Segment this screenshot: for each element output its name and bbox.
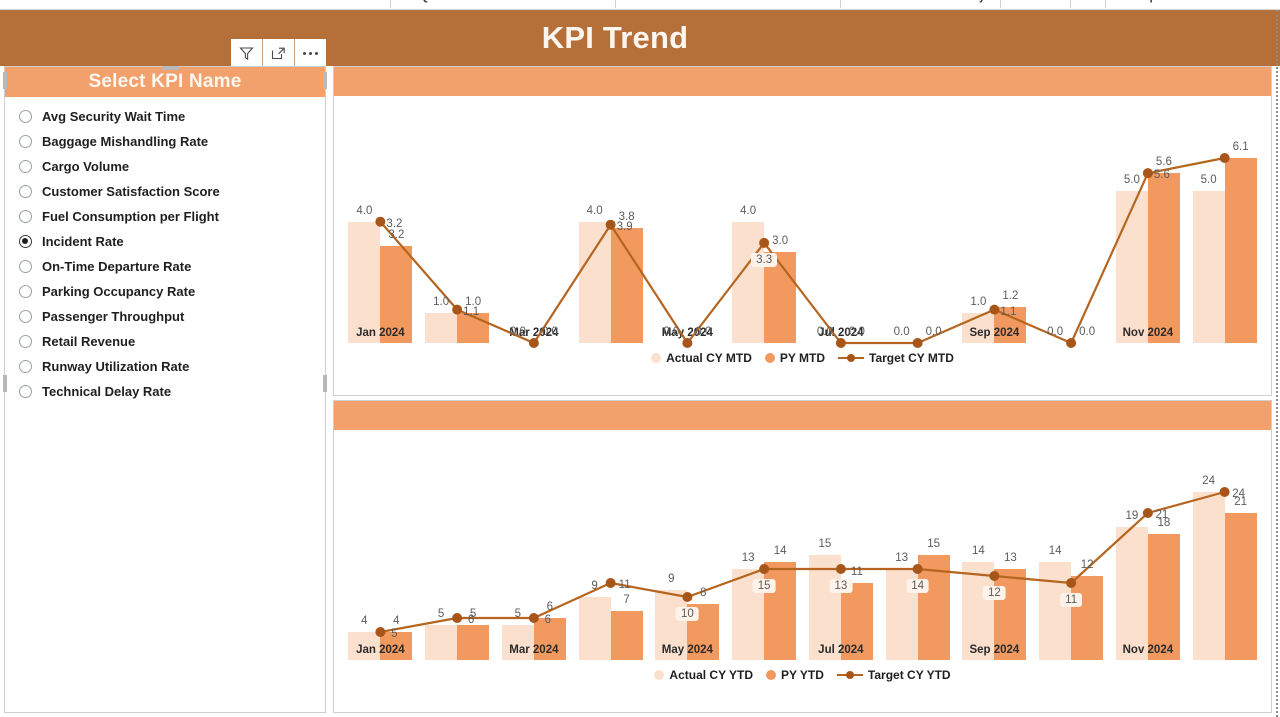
slicer-resize-grip-right-top[interactable] [323,72,327,89]
legend-color-swatch [651,353,661,363]
bar-py[interactable] [457,625,489,660]
month-group[interactable] [419,96,496,343]
bar-label-actual: 4.0 [356,205,372,217]
bar-pair [726,96,803,343]
bar-label-py: 0.0 [926,326,942,338]
bar-label-actual: 5.0 [1124,174,1140,186]
bar-actual[interactable] [1193,191,1225,343]
kpi-slicer-panel: Select KPI Name Avg Security Wait TimeBa… [4,66,326,713]
month-group[interactable] [879,430,956,660]
slicer-item-technical-delay-rate[interactable]: Technical Delay Rate [19,379,325,404]
x-axis-tick-label: Jan 2024 [356,644,405,656]
bar-pair [342,96,419,343]
bar-pair [956,430,1033,660]
bar-label-actual: 5.0 [1201,174,1217,186]
target-value-callout: 3.3 [751,253,777,267]
bar-py[interactable] [611,228,643,343]
legend-line-swatch [838,353,864,363]
bar-py[interactable] [764,562,796,660]
bar-label-py: 0.0 [1079,326,1095,338]
slicer-header: Select KPI Name [5,67,325,97]
target-value-label: 6 [545,614,551,626]
chart-legend-ytd: Actual CY YTDPY YTDTarget CY YTD [334,668,1271,682]
radio-unchecked-icon[interactable] [19,385,32,398]
month-group[interactable]: May 2024 [649,96,726,343]
slicer-item-label: On-Time Departure Rate [42,259,191,274]
ribbon-separator [1070,0,1071,8]
bar-py[interactable] [611,611,643,660]
radio-unchecked-icon[interactable] [19,160,32,173]
radio-unchecked-icon[interactable] [19,335,32,348]
bar-label-actual: 0.0 [1047,326,1063,338]
bar-label-actual: 5 [515,608,521,620]
legend-item[interactable]: PY YTD [766,668,824,682]
bar-py[interactable] [1148,534,1180,660]
radio-unchecked-icon[interactable] [19,110,32,123]
bar-py[interactable] [1225,158,1257,343]
bar-label-py: 3.0 [772,235,788,247]
bar-label-actual: 0.0 [894,326,910,338]
slicer-item-label: Customer Satisfaction Score [42,184,220,199]
chart-legend-mtd: Actual CY MTDPY MTDTarget CY MTD [334,351,1271,365]
bar-label-py: 6 [547,601,553,613]
slicer-resize-grip-top[interactable] [162,66,179,70]
bar-label-py: 6.1 [1233,141,1249,153]
bar-pair [879,96,956,343]
legend-label: Actual CY YTD [669,668,753,682]
bar-pair [803,430,880,660]
legend-item[interactable]: Target CY YTD [837,668,951,682]
month-group[interactable]: Mar 2024 [496,96,573,343]
radio-unchecked-icon[interactable] [19,135,32,148]
bar-label-py: 4 [393,615,399,627]
bar-pair [572,430,649,660]
bar-label-py: 3.2 [388,229,404,241]
bar-label-actual: 24 [1202,475,1215,487]
bar-pair [496,96,573,343]
bar-actual[interactable] [348,222,380,343]
bar-actual[interactable] [1039,562,1071,660]
bar-label-actual: 13 [895,552,908,564]
chart-header-ytd [334,401,1271,430]
target-value-label: 1.1 [1000,306,1016,318]
slicer-item-label: Passenger Throughput [42,309,184,324]
bar-label-py: 15 [927,538,940,550]
radio-unchecked-icon[interactable] [19,185,32,198]
radio-unchecked-icon[interactable] [19,360,32,373]
target-value-label: 3.9 [617,221,633,233]
chart-plot-mtd: Jan 2024Mar 2024May 2024Jul 2024Sep 2024… [334,96,1271,369]
radio-unchecked-icon[interactable] [19,210,32,223]
bar-label-actual: 4 [361,615,367,627]
bar-pair [419,96,496,343]
bar-label-py: 13 [1004,552,1017,564]
slicer-item-label: Runway Utilization Rate [42,359,189,374]
target-value-label: 6 [468,614,474,626]
bar-label-py: 0.0 [695,326,711,338]
month-group[interactable] [572,430,649,660]
bar-actual[interactable] [1116,527,1148,660]
target-value-label: 5 [391,628,397,640]
ribbon-separator [840,0,841,8]
slicer-item-label: Baggage Mishandling Rate [42,134,208,149]
bar-label-actual: 15 [818,538,831,550]
bar-label-actual: 14 [972,545,985,557]
bar-label-py: 0.0 [542,326,558,338]
bar-pair [496,430,573,660]
legend-item[interactable]: PY MTD [765,351,825,365]
bar-actual[interactable] [732,222,764,343]
target-value-label: 1.1 [463,306,479,318]
ribbon-tab-copilot[interactable]: Copilot [1135,0,1173,3]
month-group[interactable]: Sep 2024 [956,430,1033,660]
legend-item[interactable]: Target CY MTD [838,351,954,365]
legend-item[interactable]: Actual CY MTD [651,351,752,365]
x-axis-tick-label: Nov 2024 [1123,327,1174,339]
month-groups-ytd: Jan 2024Mar 2024May 2024Jul 2024Sep 2024… [342,430,1263,660]
slicer-item-fuel-consumption-per-flight[interactable]: Fuel Consumption per Flight [19,204,325,229]
bar-label-py: 12 [1081,559,1094,571]
ribbon-tab-share[interactable]: Share [1028,0,1059,3]
legend-color-swatch [765,353,775,363]
bar-label-py: 5.6 [1156,156,1172,168]
bar-actual[interactable] [579,597,611,660]
month-group[interactable] [726,96,803,343]
ribbon-separator [1105,0,1106,8]
slicer-item-label: Incident Rate [42,234,124,249]
filter-icon[interactable] [231,39,263,68]
bar-pair [803,96,880,343]
month-group[interactable] [726,430,803,660]
bar-py[interactable] [1225,513,1257,660]
target-value-label: 3.2 [386,218,402,230]
slicer-item-baggage-mishandling-rate[interactable]: Baggage Mishandling Rate [19,129,325,154]
ribbon-tab-insert[interactable]: Insert [630,0,660,3]
slicer-resize-grip-right-mid[interactable] [323,375,327,392]
radio-unchecked-icon[interactable] [19,310,32,323]
legend-color-swatch [766,670,776,680]
legend-label: Actual CY MTD [666,351,752,365]
report-banner: KPI Trend [0,10,1280,66]
x-axis-tick-label: Jul 2024 [818,644,863,656]
month-group[interactable] [419,430,496,660]
slicer-item-incident-rate[interactable]: Incident Rate [19,229,325,254]
slicer-item-avg-security-wait-time[interactable]: Avg Security Wait Time [19,104,325,129]
slicer-item-on-time-departure-rate[interactable]: On-Time Departure Rate [19,254,325,279]
chart-plot-ytd: Jan 2024Mar 2024May 2024Jul 2024Sep 2024… [334,430,1271,686]
slicer-item-passenger-throughput[interactable]: Passenger Throughput [19,304,325,329]
month-group[interactable]: Mar 2024 [496,430,573,660]
bar-py[interactable] [918,555,950,660]
bar-label-actual: 13 [742,552,755,564]
legend-item[interactable]: Actual CY YTD [654,668,753,682]
chart-header-mtd [334,67,1271,96]
radio-unchecked-icon[interactable] [19,260,32,273]
bar-label-actual: 5 [438,608,444,620]
x-axis-tick-label: Sep 2024 [969,327,1019,339]
radio-unchecked-icon[interactable] [19,285,32,298]
bar-pair [726,430,803,660]
bar-actual[interactable] [425,625,457,660]
kpi-option-list: Avg Security Wait TimeBaggage Mishandlin… [5,97,325,404]
visual-toolbar [231,39,326,68]
target-value-callout: 10 [676,607,699,621]
bar-actual[interactable] [579,222,611,343]
radio-checked-icon[interactable] [19,235,32,248]
bar-label-actual: 19 [1125,510,1138,522]
legend-label: Target CY MTD [869,351,954,365]
page-title: KPI Trend [0,20,1230,56]
bar-label-actual: 4.0 [587,205,603,217]
target-value-label: 5.6 [1154,169,1170,181]
bar-pair [1186,96,1263,343]
slicer-item-runway-utilization-rate[interactable]: Runway Utilization Rate [19,354,325,379]
bar-pair [342,430,419,660]
month-group[interactable] [1186,430,1263,660]
slicer-resize-grip-left-mid[interactable] [3,375,7,392]
bar-pair [1110,430,1187,660]
bar-actual[interactable] [1193,492,1225,660]
ellipsis-glyph [303,52,318,55]
ribbon-tab-calculations[interactable]: Calculations [760,0,825,3]
bar-pair [879,430,956,660]
bar-label-py: 0.0 [849,326,865,338]
bar-label-actual: 9 [591,580,597,592]
page-boundary [1276,10,1278,717]
ribbon-separator [615,0,616,8]
month-group[interactable]: May 2024 [649,430,726,660]
bar-label-py: 7 [623,594,629,606]
slicer-item-parking-occupancy-rate[interactable]: Parking Occupancy Rate [19,279,325,304]
month-group[interactable]: Nov 2024 [1110,96,1187,343]
bar-label-actual: 1.0 [970,296,986,308]
bar-label-actual: 4.0 [740,205,756,217]
month-group[interactable]: Sep 2024 [956,96,1033,343]
bar-label-py: 14 [774,545,787,557]
target-value-callout: 13 [829,579,852,593]
x-axis-tick-label: Nov 2024 [1123,644,1174,656]
slicer-item-label: Fuel Consumption per Flight [42,209,219,224]
slicer-item-label: Technical Delay Rate [42,384,171,399]
bar-actual[interactable] [425,313,457,343]
month-group[interactable]: Nov 2024 [1110,430,1187,660]
ribbon-separator [1000,0,1001,8]
bar-label-actual: 1.0 [433,296,449,308]
target-value-callout: 15 [753,579,776,593]
slicer-item-cargo-volume[interactable]: Cargo Volume [19,154,325,179]
bar-label-actual: 14 [1049,545,1062,557]
legend-label: PY MTD [780,351,825,365]
month-group[interactable] [1186,96,1263,343]
ribbon-separator [390,0,391,8]
bar-pair [649,430,726,660]
x-axis-tick-label: May 2024 [662,644,713,656]
ribbon-tab-data[interactable]: Data [133,0,157,3]
target-value-callout: 11 [1060,593,1082,607]
bar-py[interactable] [1148,173,1180,343]
bar-py[interactable] [1071,576,1103,660]
month-group[interactable]: Jul 2024 [803,96,880,343]
bar-pair [649,96,726,343]
legend-label: Target CY YTD [868,668,951,682]
month-group[interactable]: Jan 2024 [342,430,419,660]
x-axis-tick-label: Mar 2024 [509,644,558,656]
slicer-item-label: Avg Security Wait Time [42,109,185,124]
month-group[interactable] [1033,430,1110,660]
target-value-label: 11 [619,579,631,591]
bar-pair [419,430,496,660]
slicer-resize-grip-left[interactable] [3,72,7,89]
slicer-item-retail-revenue[interactable]: Retail Revenue [19,329,325,354]
month-group[interactable] [879,96,956,343]
bar-pair [1186,430,1263,660]
focus-mode-icon[interactable] [263,39,295,68]
slicer-item-label: Cargo Volume [42,159,129,174]
bar-label-actual: 0.0 [817,326,833,338]
bar-label-actual: 0.0 [510,326,526,338]
bar-pair [1033,96,1110,343]
slicer-item-customer-satisfaction-score[interactable]: Customer Satisfaction Score [19,179,325,204]
bar-actual[interactable] [1116,191,1148,343]
target-value-label: 21 [1155,509,1168,521]
ribbon-tab-queries[interactable]: Queries [420,0,461,3]
slicer-title: Select KPI Name [89,71,242,93]
month-group[interactable]: Jul 2024 [803,430,880,660]
ribbon-strip: DataQueriesInsertCalculationsSensitivity… [0,0,1280,10]
bar-label-actual: 9 [668,573,674,585]
bar-label-actual: 0.0 [663,326,679,338]
power-bi-report-page: DataQueriesInsertCalculationsSensitivity… [0,0,1280,717]
slicer-item-label: Parking Occupancy Rate [42,284,195,299]
chart-card-mtd: Jan 2024Mar 2024May 2024Jul 2024Sep 2024… [333,66,1272,396]
bar-pair [1033,430,1110,660]
legend-color-swatch [654,670,664,680]
bar-pair [572,96,649,343]
more-options-icon[interactable] [295,39,326,68]
x-axis-tick-label: Jan 2024 [356,327,405,339]
ribbon-tab-sensitivity[interactable]: Sensitivity [930,0,985,3]
month-group[interactable]: Jan 2024 [342,96,419,343]
chart-card-ytd: Jan 2024Mar 2024May 2024Jul 2024Sep 2024… [333,400,1272,713]
target-value-label: 24 [1232,488,1245,500]
legend-label: PY YTD [781,668,824,682]
bar-pair [956,96,1033,343]
month-group[interactable] [1033,96,1110,343]
x-axis-tick-label: Sep 2024 [969,644,1019,656]
target-value-callout: 14 [906,579,929,593]
legend-line-swatch [837,670,863,680]
slicer-item-label: Retail Revenue [42,334,135,349]
bar-label-py: 11 [851,566,863,578]
bar-label-py: 1.2 [1002,290,1018,302]
target-value-callout: 12 [983,586,1006,600]
bar-pair [1110,96,1187,343]
bar-label-py: 8 [700,587,706,599]
month-group[interactable] [572,96,649,343]
